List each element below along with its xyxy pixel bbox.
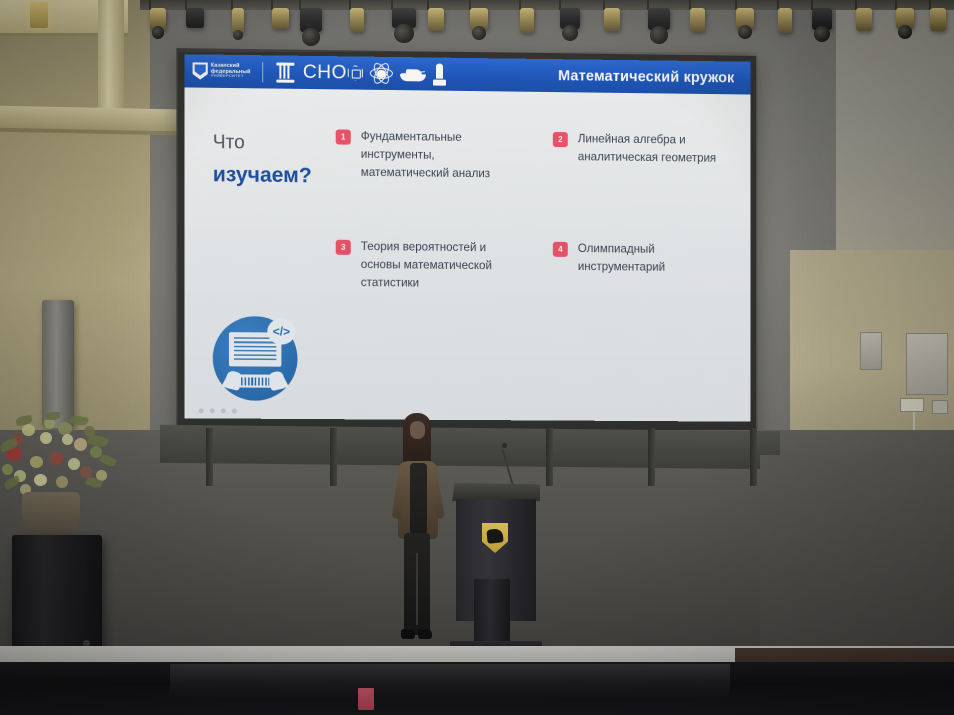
floor-right-area — [760, 455, 954, 670]
question-line-1: Что — [213, 130, 312, 157]
kfu-shield-icon — [193, 62, 208, 79]
rail-post — [206, 428, 213, 486]
list-item: 3 Теория вероятностей и основы математич… — [336, 238, 505, 293]
item-number-badge: 2 — [553, 132, 568, 147]
item-text: Теория вероятностей и основы математичес… — [361, 238, 505, 293]
rail-post — [546, 428, 553, 486]
item-number-badge: 3 — [336, 240, 351, 255]
item-number-badge: 4 — [553, 242, 568, 257]
flower — [34, 474, 47, 486]
presenter — [392, 413, 444, 653]
floor-marker — [358, 688, 374, 710]
logo-divider — [263, 62, 264, 82]
inner-top — [410, 463, 427, 535]
left-wall — [0, 0, 150, 470]
flower — [62, 434, 73, 445]
presentation-slide: Казанский федеральный УНИВЕРСИТЕТ СНО — [185, 54, 751, 421]
kfu-logo: Казанский федеральный УНИВЕРСИТЕТ — [193, 62, 251, 80]
list-item: 1 Фундаментальные инструменты, математич… — [336, 127, 505, 183]
lectern — [452, 483, 540, 653]
flower — [22, 424, 35, 436]
control-switch-plate — [860, 332, 882, 370]
column-logo-icon — [276, 61, 296, 82]
microphone-head-icon — [502, 443, 507, 448]
meter-box — [900, 398, 924, 412]
foliage — [99, 453, 117, 469]
foliage — [3, 475, 21, 490]
electrical-panel — [906, 333, 948, 395]
rail-post — [648, 428, 655, 486]
question-line-2: изучаем? — [213, 161, 312, 191]
flower — [68, 458, 80, 470]
list-item: 2 Линейная алгебра и аналитическая геоме… — [553, 130, 738, 186]
flower — [58, 422, 72, 435]
flower — [50, 452, 64, 465]
wall-mounted-speaker — [42, 300, 74, 428]
rail-post — [750, 428, 757, 486]
lectern-column — [474, 579, 510, 641]
flower — [74, 438, 87, 451]
keyboard-icon — [221, 374, 290, 388]
atom-logo-icon — [370, 63, 393, 84]
sno-logo: СНО — [303, 61, 363, 84]
slide-pagination-dots — [199, 408, 237, 413]
floral-arrangement — [0, 412, 118, 504]
topic-row-1: 1 Фундаментальные инструменты, математич… — [336, 127, 739, 185]
topic-list: 1 Фундаментальные инструменты, математич… — [336, 127, 739, 295]
slide-title: Математический кружок — [558, 68, 740, 86]
foliage — [87, 433, 109, 448]
sno-hex-icon — [348, 65, 363, 81]
flower — [2, 464, 13, 475]
logo-strip: Казанский федеральный УНИВЕРСИТЕТ СНО — [193, 60, 447, 85]
flower — [56, 476, 68, 488]
flower — [40, 432, 52, 444]
shoe-left — [401, 629, 415, 639]
face — [410, 421, 425, 439]
item-text: Фундаментальные инструменты, математичес… — [361, 128, 505, 184]
pilaster — [98, 0, 124, 112]
small-box — [932, 400, 948, 414]
right-wall-upper — [836, 0, 954, 260]
sno-logo-label: СНО — [303, 61, 347, 84]
foliage — [69, 414, 88, 427]
rail-post — [330, 428, 337, 486]
wall-sconce-lamp — [30, 2, 48, 28]
monument-logo-icon — [433, 63, 446, 85]
slide-body: Что изучаем? 1 Фундаментальные инструмен… — [185, 87, 751, 421]
item-text: Олимпиадный инструментарий — [578, 240, 739, 277]
lecture-hall-photo: Казанский федеральный УНИВЕРСИТЕТ СНО — [0, 0, 954, 715]
shoe-right — [418, 629, 432, 639]
list-item: 4 Олимпиадный инструментарий — [553, 240, 738, 295]
kfu-logo-line3: УНИВЕРСИТЕТ — [211, 75, 251, 79]
flower-vase — [22, 492, 80, 540]
stage-reflection — [170, 664, 730, 714]
question-block: Что изучаем? — [213, 130, 312, 190]
coding-laptop-icon: </> — [213, 316, 298, 401]
item-number-badge: 1 — [336, 129, 351, 144]
topic-row-2: 3 Теория вероятностей и основы математич… — [336, 238, 739, 295]
lighting-truss — [140, 0, 954, 10]
code-bubble-icon: </> — [267, 318, 295, 344]
boat-logo-icon — [400, 65, 426, 82]
stage-back-rail — [160, 425, 780, 469]
item-text: Линейная алгебра и аналитическая геометр… — [578, 130, 739, 168]
foliage — [46, 412, 60, 420]
flower — [30, 456, 43, 468]
loudspeaker-cabinet — [12, 535, 102, 657]
